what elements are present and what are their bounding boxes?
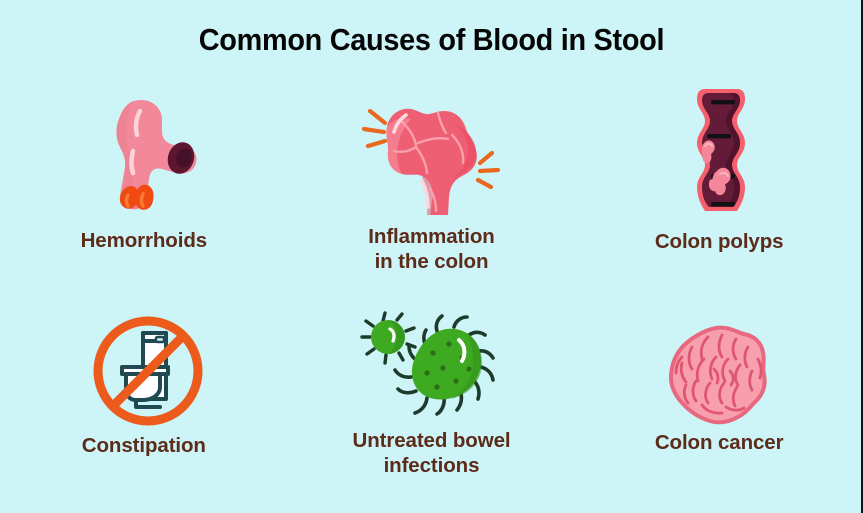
cause-label-hemorrhoids: Hemorrhoids	[81, 228, 207, 253]
inflamed-colon-icon	[356, 93, 506, 221]
cause-card-constipation: Constipation	[0, 291, 288, 513]
hemorrhoids-icon	[92, 91, 204, 219]
tumor-icon	[664, 305, 774, 433]
colon-polyps-icon	[681, 87, 761, 215]
small-bacterium	[362, 313, 415, 363]
infographic-canvas: Common Causes of Blood in Stool Hemor	[0, 0, 863, 513]
cause-label-polyps: Colon polyps	[655, 229, 784, 254]
cause-label-inflammation: Inflammation in the colon	[368, 224, 494, 274]
no-toilet-icon	[88, 303, 208, 431]
cause-card-polyps: Colon polyps	[575, 88, 863, 291]
page-title: Common Causes of Blood in Stool	[30, 22, 833, 58]
cause-card-inflammation: Inflammation in the colon	[288, 88, 576, 291]
cause-label-constipation: Constipation	[82, 433, 206, 458]
cause-card-infections: Untreated bowel infections	[288, 291, 576, 513]
cause-label-infections: Untreated bowel infections	[353, 428, 511, 478]
bacteria-icon	[361, 301, 506, 429]
cause-card-cancer: Colon cancer	[575, 291, 863, 513]
cause-label-cancer: Colon cancer	[655, 430, 784, 455]
cause-card-hemorrhoids: Hemorrhoids	[0, 88, 288, 291]
causes-grid: Hemorrhoids	[0, 88, 863, 513]
